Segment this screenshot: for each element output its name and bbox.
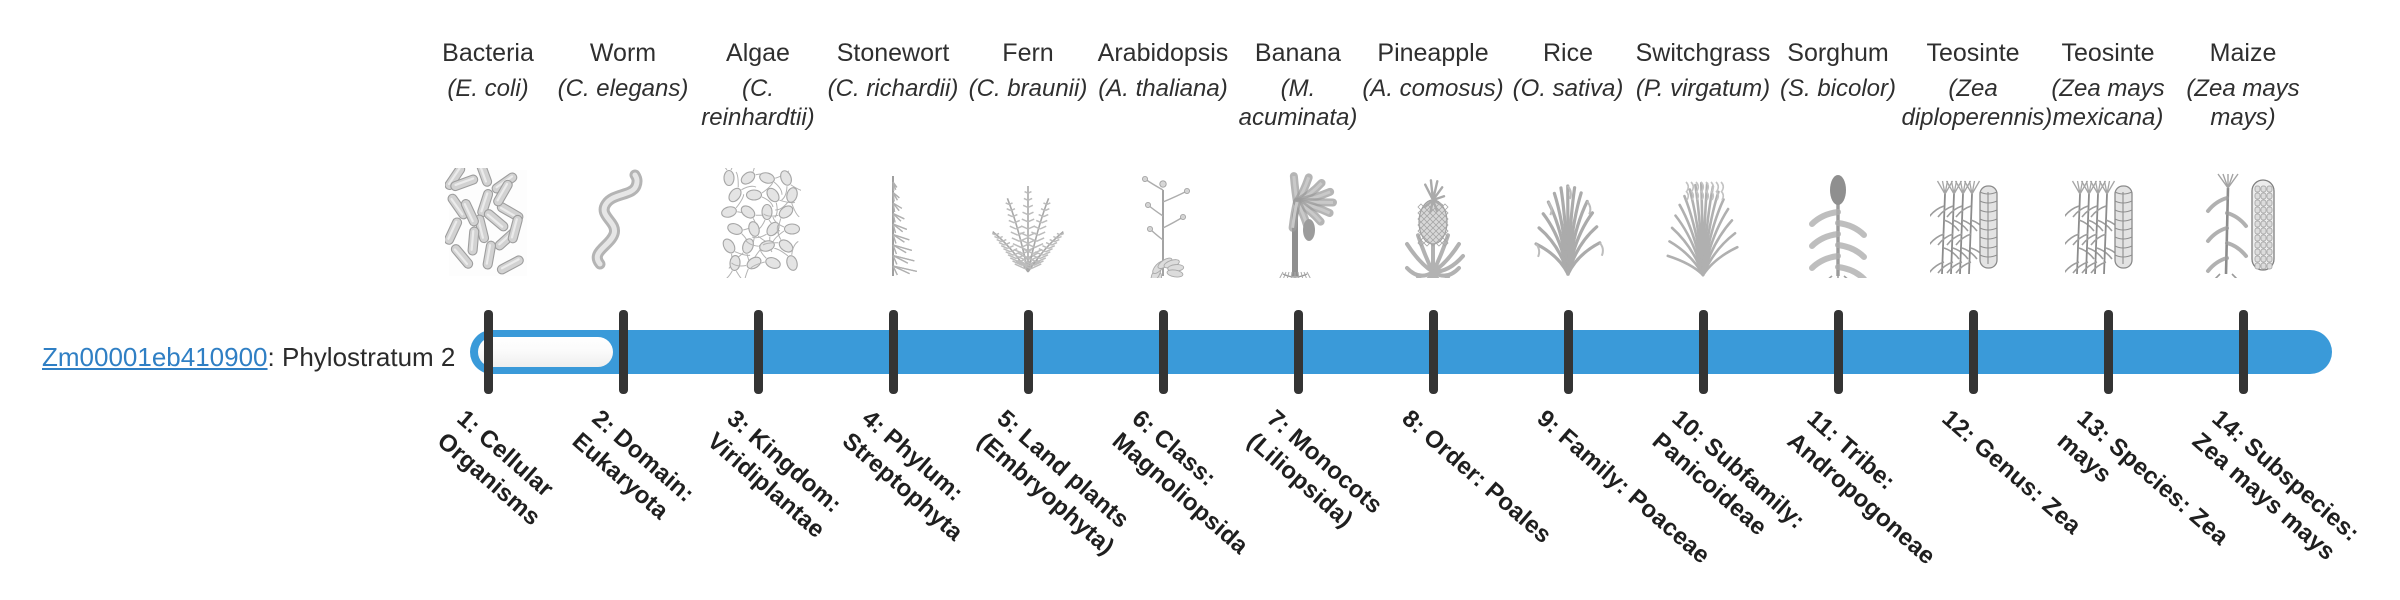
- phylostratum-timeline: Zm00001eb410900: Phylostratum 2 Bacteria…: [0, 0, 2400, 580]
- gene-label-separator: :: [268, 342, 282, 372]
- rank-labels: 1: Cellular Organisms2: Domain: Eukaryot…: [452, 0, 2342, 580]
- gene-phylostratum-label: Zm00001eb410900: Phylostratum 2: [42, 342, 455, 373]
- gene-id-link[interactable]: Zm00001eb410900: [42, 342, 268, 372]
